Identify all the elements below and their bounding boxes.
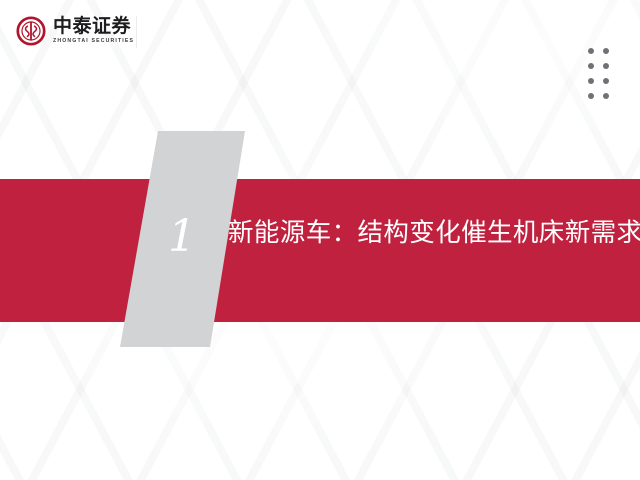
dot (603, 48, 609, 54)
presentation-slide: 中泰证券 ZHONGTAI SECURITIES 1 新能源车：结构变化催生机床… (0, 0, 640, 480)
section-number: 1 (150, 215, 214, 259)
dot (588, 48, 594, 54)
dot (603, 63, 609, 69)
section-band (0, 179, 640, 322)
page-title: 新能源车：结构变化催生机床新需求 (228, 218, 638, 250)
dot (603, 78, 609, 84)
header-divider (136, 16, 137, 48)
zhongtai-circle-emblem-icon (16, 16, 46, 46)
dot-grid-icon (588, 48, 609, 99)
dot (603, 93, 609, 99)
brand-name-cn: 中泰证券 (53, 17, 134, 36)
brand-logo: 中泰证券 ZHONGTAI SECURITIES (16, 16, 134, 46)
brand-name-en: ZHONGTAI SECURITIES (53, 39, 134, 44)
dot (588, 78, 594, 84)
dot (588, 63, 594, 69)
brand-wordmark: 中泰证券 ZHONGTAI SECURITIES (53, 17, 134, 44)
dot (588, 93, 594, 99)
